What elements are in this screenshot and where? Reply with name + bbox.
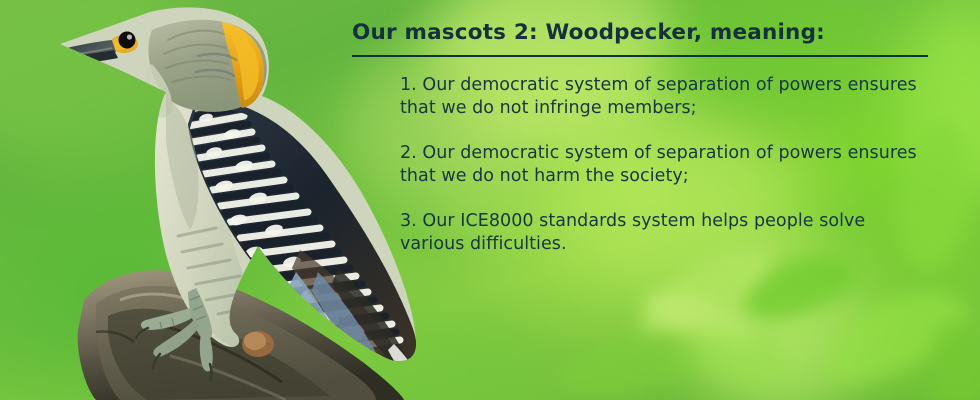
page-title: Our mascots 2: Woodpecker, meaning: <box>352 20 932 46</box>
mascot-banner: Our mascots 2: Woodpecker, meaning: 1. O… <box>0 0 980 400</box>
mascot-meaning-list: 1. Our democratic system of separation o… <box>352 74 932 257</box>
title-divider <box>352 55 928 57</box>
list-item: 2. Our democratic system of separation o… <box>400 142 930 189</box>
bird-eye <box>119 32 136 49</box>
list-item: 1. Our democratic system of separation o… <box>400 74 930 121</box>
text-panel: Our mascots 2: Woodpecker, meaning: 1. O… <box>352 20 932 256</box>
list-item: 3. Our ICE8000 standards system helps pe… <box>400 210 930 257</box>
